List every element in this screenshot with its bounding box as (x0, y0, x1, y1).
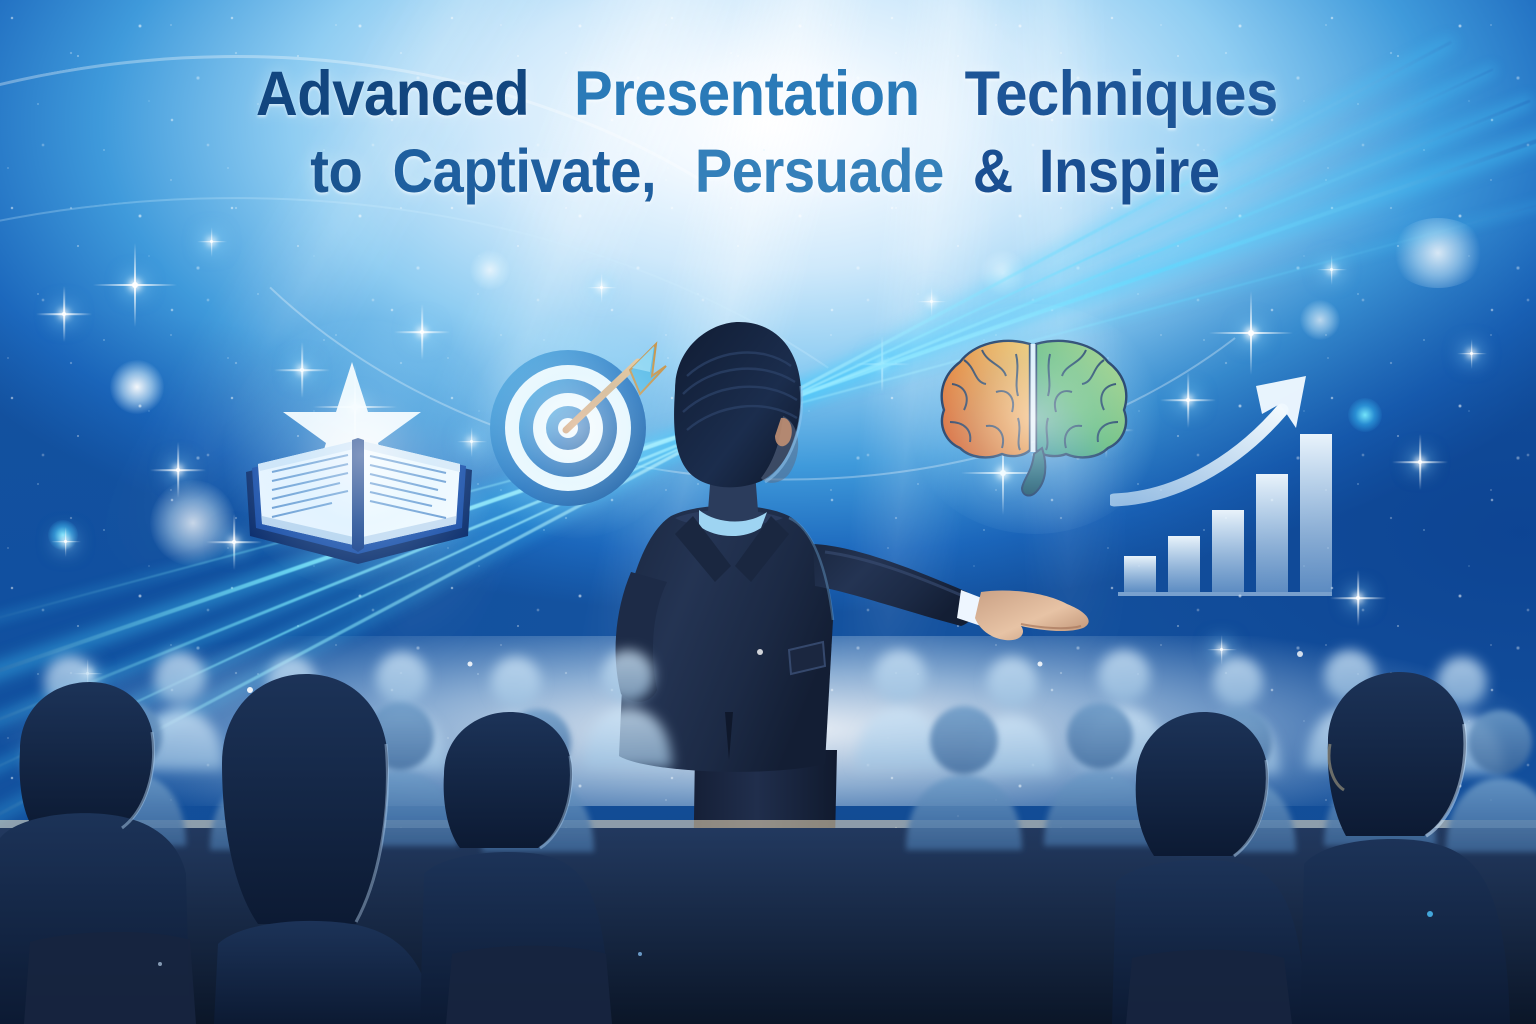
title-word: to (310, 140, 362, 203)
bar (1256, 474, 1288, 592)
title-line-2: to Captivate, Persuade & Inspire (0, 140, 1536, 203)
title-word: Captivate, (393, 140, 657, 203)
bar (1300, 434, 1332, 592)
title-word: & (973, 140, 1013, 203)
title-line-1: Advanced Presentation Techniques (0, 62, 1536, 128)
bar-chart-svg (1110, 370, 1350, 620)
title-word: Presentation (574, 62, 920, 128)
growth-chart-icon (1110, 370, 1350, 620)
title-word: Persuade (695, 140, 944, 203)
banner-title: Advanced Presentation Techniques to Capt… (0, 62, 1536, 203)
open-book-icon (232, 340, 492, 580)
audience-group (0, 624, 1536, 1024)
bar (1212, 510, 1244, 592)
title-word: Inspire (1039, 140, 1220, 203)
presentation-banner: Advanced Presentation Techniques to Capt… (0, 0, 1536, 1024)
title-word: Techniques (965, 62, 1278, 128)
bar (1168, 536, 1200, 592)
title-word: Advanced (256, 62, 529, 128)
